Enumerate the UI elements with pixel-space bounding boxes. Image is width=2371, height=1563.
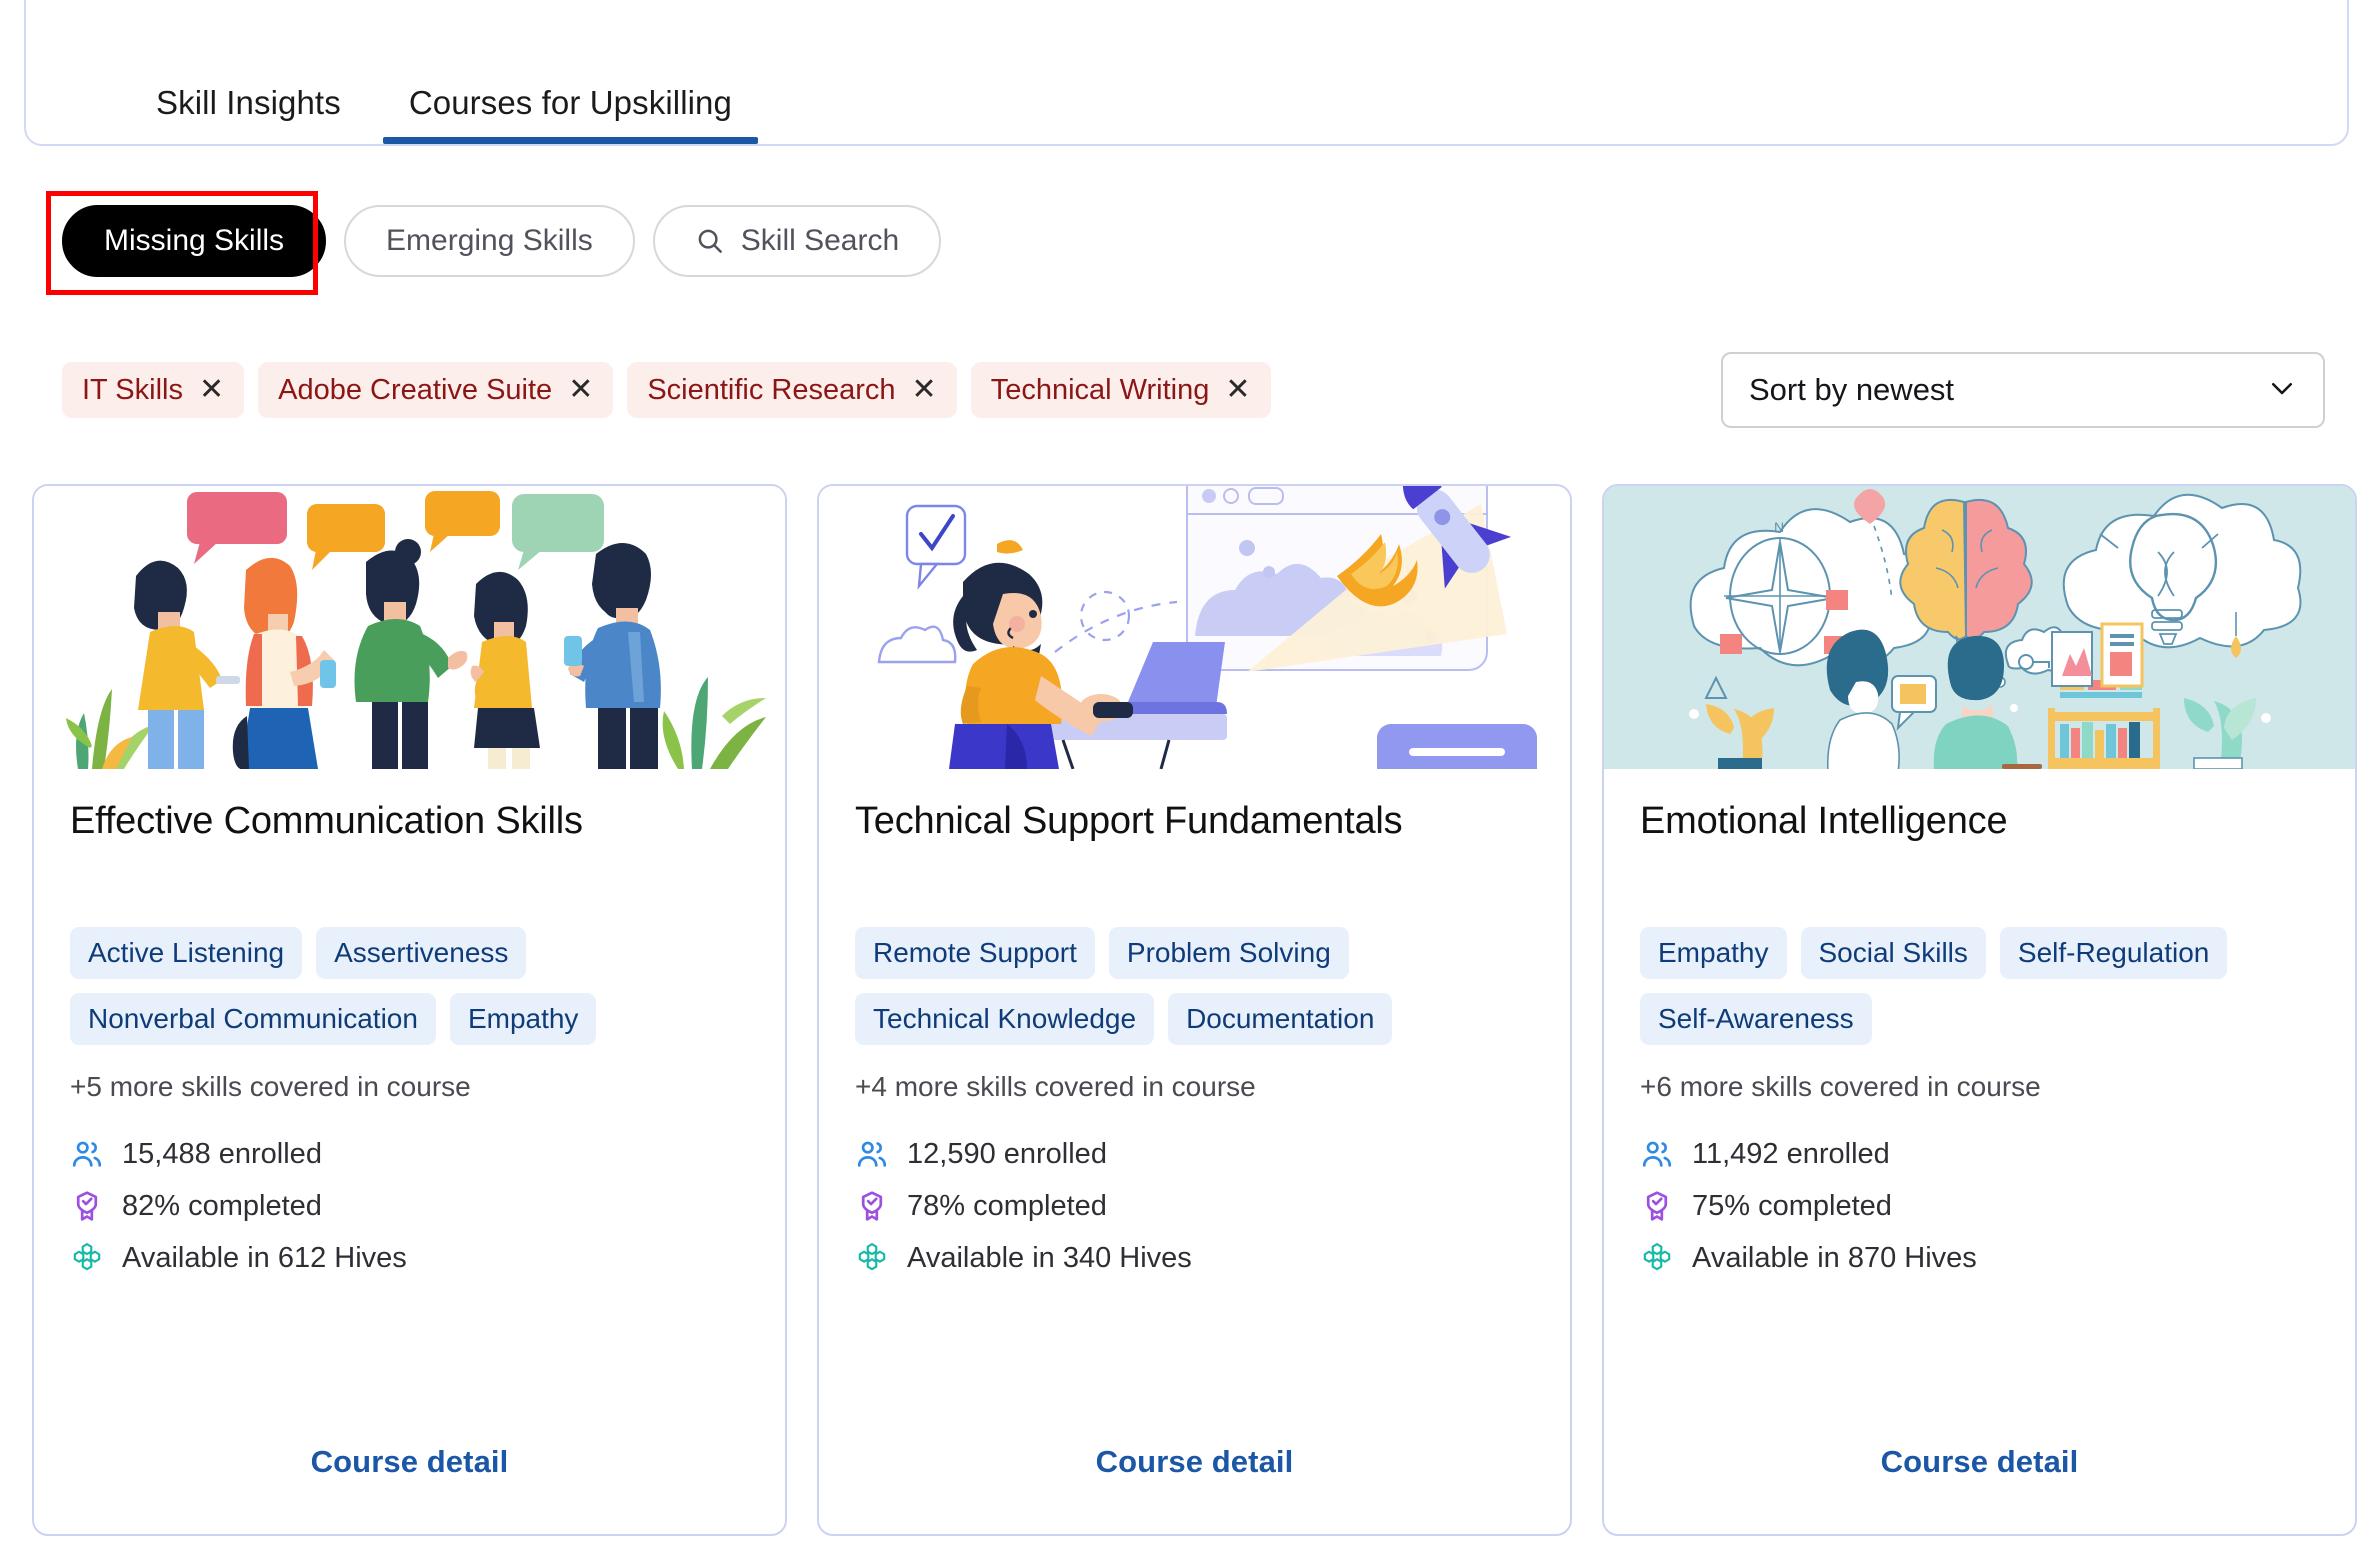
course-skill-tags: Empathy Social Skills Self-Regulation Se… — [1640, 927, 2319, 1045]
hive-icon — [855, 1241, 889, 1275]
skill-tag[interactable]: Remote Support — [855, 927, 1095, 979]
stat-enrolled: 11,492 enrolled — [1640, 1137, 2319, 1171]
skill-tag[interactable]: Social Skills — [1801, 927, 1986, 979]
skill-tag[interactable]: Documentation — [1168, 993, 1392, 1045]
course-detail-link[interactable]: Course detail — [1096, 1444, 1294, 1479]
skill-chip-label: Adobe Creative Suite — [278, 374, 552, 407]
people-icon — [1640, 1137, 1674, 1171]
sort-select-value: Sort by newest — [1749, 372, 2267, 408]
more-skills-text: +4 more skills covered in course — [855, 1071, 1534, 1103]
tab-skill-insights[interactable]: Skill Insights — [122, 84, 375, 144]
chevron-down-icon — [2267, 373, 2297, 408]
stat-enrolled-text: 15,488 enrolled — [122, 1138, 322, 1171]
skill-chip-label: Scientific Research — [647, 374, 895, 407]
course-title: Emotional Intelligence — [1640, 799, 2319, 895]
skill-chip[interactable]: IT Skills ✕ — [62, 362, 244, 418]
close-icon[interactable]: ✕ — [912, 375, 937, 405]
close-icon[interactable]: ✕ — [1225, 375, 1250, 405]
stat-hives-text: Available in 870 Hives — [1692, 1242, 1977, 1275]
stat-completed: 82% completed — [70, 1189, 749, 1223]
filter-pill-group: Missing Skills Emerging Skills Skill Sea… — [62, 205, 941, 277]
course-detail-link[interactable]: Course detail — [1881, 1444, 2079, 1479]
skill-tag[interactable]: Active Listening — [70, 927, 302, 979]
stat-enrolled: 12,590 enrolled — [855, 1137, 1534, 1171]
skill-chip[interactable]: Adobe Creative Suite ✕ — [258, 362, 613, 418]
skill-tag[interactable]: Technical Knowledge — [855, 993, 1154, 1045]
people-icon — [855, 1137, 889, 1171]
tab-bar: Skill Insights Courses for Upskilling — [24, 0, 2349, 146]
course-stats: 11,492 enrolled 75% completed — [1640, 1137, 2319, 1275]
pill-missing-skills[interactable]: Missing Skills — [62, 205, 326, 277]
stat-completed: 78% completed — [855, 1189, 1534, 1223]
stat-hives-text: Available in 340 Hives — [907, 1242, 1192, 1275]
pill-emerging-skills[interactable]: Emerging Skills — [344, 205, 635, 277]
course-title: Technical Support Fundamentals — [855, 799, 1534, 895]
course-stats: 15,488 enrolled 82% completed — [70, 1137, 749, 1275]
pill-skill-search-label: Skill Search — [741, 224, 899, 258]
hive-icon — [1640, 1241, 1674, 1275]
stat-completed-text: 82% completed — [122, 1190, 322, 1223]
course-illustration-communication — [34, 486, 785, 769]
skill-tag[interactable]: Problem Solving — [1109, 927, 1349, 979]
course-title: Effective Communication Skills — [70, 799, 749, 895]
stat-hives: Available in 340 Hives — [855, 1241, 1534, 1275]
people-icon — [70, 1137, 104, 1171]
course-detail-link-wrap: Course detail — [70, 1404, 749, 1534]
course-card[interactable]: N — [1602, 484, 2357, 1536]
skill-tag[interactable]: Self-Awareness — [1640, 993, 1872, 1045]
courses-for-upskilling-page: Skill Insights Courses for Upskilling Mi… — [0, 0, 2371, 1563]
award-badge-icon — [855, 1189, 889, 1223]
more-skills-text: +6 more skills covered in course — [1640, 1071, 2319, 1103]
course-card[interactable]: Technical Support Fundamentals Remote Su… — [817, 484, 1572, 1536]
course-skill-tags: Remote Support Problem Solving Technical… — [855, 927, 1534, 1045]
search-icon — [695, 226, 725, 256]
course-card-grid: Effective Communication Skills Active Li… — [32, 484, 2357, 1536]
skill-chip-label: Technical Writing — [991, 374, 1210, 407]
stat-enrolled-text: 12,590 enrolled — [907, 1138, 1107, 1171]
course-detail-link-wrap: Course detail — [1640, 1404, 2319, 1534]
stat-enrolled: 15,488 enrolled — [70, 1137, 749, 1171]
stat-enrolled-text: 11,492 enrolled — [1692, 1138, 1890, 1171]
close-icon[interactable]: ✕ — [199, 375, 224, 405]
course-stats: 12,590 enrolled 78% completed — [855, 1137, 1534, 1275]
stat-completed-text: 78% completed — [907, 1190, 1107, 1223]
hive-icon — [70, 1241, 104, 1275]
skill-chip[interactable]: Technical Writing ✕ — [971, 362, 1271, 418]
pill-skill-search[interactable]: Skill Search — [653, 205, 941, 277]
close-icon[interactable]: ✕ — [568, 375, 593, 405]
skill-tag[interactable]: Empathy — [450, 993, 597, 1045]
award-badge-icon — [70, 1189, 104, 1223]
stat-completed: 75% completed — [1640, 1189, 2319, 1223]
skill-tag[interactable]: Assertiveness — [316, 927, 526, 979]
stat-hives-text: Available in 612 Hives — [122, 1242, 407, 1275]
sort-select[interactable]: Sort by newest — [1721, 352, 2325, 428]
stat-completed-text: 75% completed — [1692, 1190, 1892, 1223]
award-badge-icon — [1640, 1189, 1674, 1223]
course-detail-link-wrap: Course detail — [855, 1404, 1534, 1534]
skill-tag[interactable]: Nonverbal Communication — [70, 993, 436, 1045]
stat-hives: Available in 612 Hives — [70, 1241, 749, 1275]
course-detail-link[interactable]: Course detail — [311, 1444, 509, 1479]
skill-chip[interactable]: Scientific Research ✕ — [627, 362, 956, 418]
skill-chip-label: IT Skills — [82, 374, 183, 407]
svg-text:N: N — [1774, 519, 1784, 535]
course-card[interactable]: Effective Communication Skills Active Li… — [32, 484, 787, 1536]
more-skills-text: +5 more skills covered in course — [70, 1071, 749, 1103]
course-illustration-technical-support — [819, 486, 1570, 769]
skill-tag[interactable]: Empathy — [1640, 927, 1787, 979]
tab-courses-for-upskilling[interactable]: Courses for Upskilling — [375, 84, 766, 144]
skill-tag[interactable]: Self-Regulation — [2000, 927, 2227, 979]
stat-hives: Available in 870 Hives — [1640, 1241, 2319, 1275]
course-skill-tags: Active Listening Assertiveness Nonverbal… — [70, 927, 749, 1045]
selected-skill-chips: IT Skills ✕ Adobe Creative Suite ✕ Scien… — [62, 362, 1271, 418]
course-illustration-emotional-intelligence: N — [1604, 486, 2355, 769]
